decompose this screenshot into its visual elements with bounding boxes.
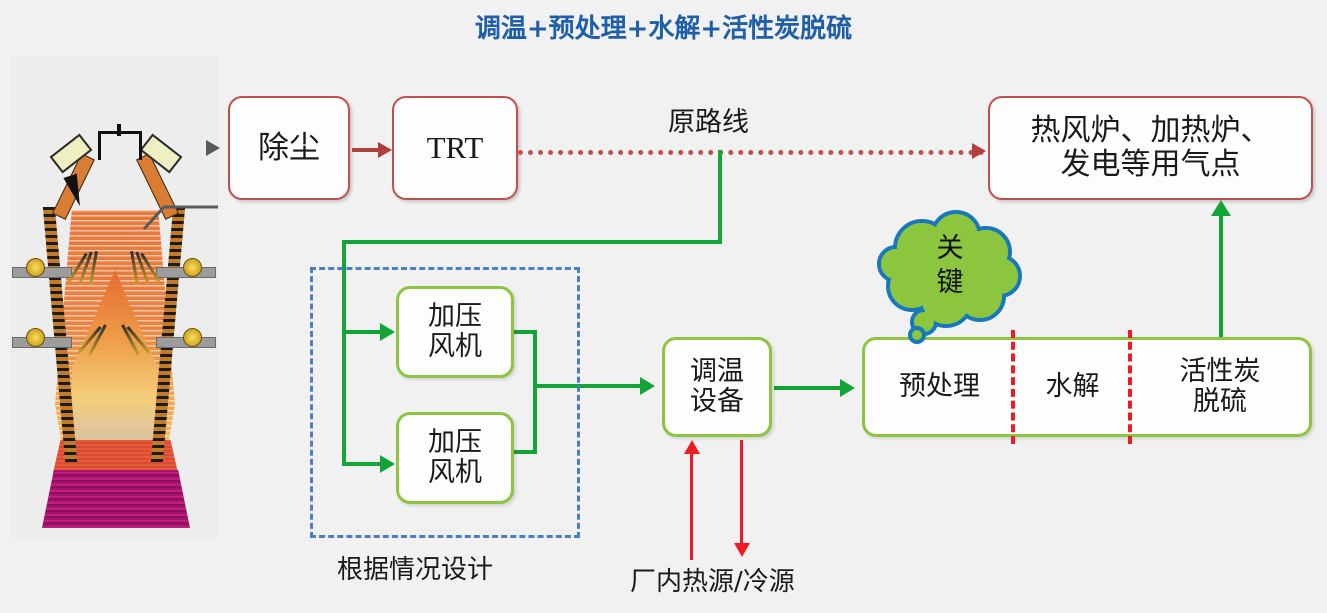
collector-to-temp-arrowhead [640, 377, 655, 395]
heat-source-in-arrowhead [684, 440, 700, 454]
process-divider-2 [1128, 330, 1132, 444]
heat-source-out-line [740, 440, 743, 544]
tuyere-valve-left-lower [26, 328, 45, 347]
slide-canvas: 调温+预处理+水解+活性炭脱硫 [0, 0, 1327, 613]
temp-to-process-line [774, 386, 842, 390]
process-section-hydrolysis: 水解 [1014, 340, 1131, 434]
heat-source-out-arrowhead [734, 543, 750, 557]
temp-to-process-arrowhead [840, 379, 855, 397]
cloud-label: 关 键 [876, 232, 1024, 300]
original-route-arrowhead [972, 143, 986, 159]
process-to-gas-arrowhead [1211, 200, 1231, 216]
tuyere-valve-right-upper [183, 258, 202, 277]
tuyere-valve-right-lower [183, 328, 202, 347]
node-process-train[interactable]: 预处理 水解 活性炭 脱硫 [862, 337, 1312, 437]
furnace-gas-outlet-pipe [142, 197, 218, 231]
dedust-to-trt-arrowhead [378, 142, 392, 158]
furnace-top-gear [98, 131, 142, 160]
callout-key-cloud: 关 键 [876, 208, 1024, 348]
node-dedust[interactable]: 除尘 [228, 96, 350, 200]
process-section-activated-carbon: 活性炭 脱硫 [1131, 340, 1309, 434]
tuyere-valve-left-upper [26, 258, 45, 277]
node-gas-users[interactable]: 热风炉、加热炉、 发电等用气点 [988, 96, 1313, 200]
fan-feed-horizontal [342, 240, 722, 244]
original-route-dotted-line [518, 150, 984, 155]
page-title: 调温+预处理+水解+活性炭脱硫 [0, 8, 1327, 45]
route-to-fan-branch-vertical [718, 150, 722, 242]
label-design-note: 根据情况设计 [337, 549, 493, 586]
node-trt[interactable]: TRT [392, 96, 518, 200]
node-temperature-control[interactable]: 调温 设备 [662, 337, 772, 437]
dedust-to-trt-line [352, 148, 380, 152]
node-pressure-fan-2[interactable]: 加压 风机 [396, 412, 514, 504]
node-pressure-fan-1[interactable]: 加压 风机 [396, 286, 514, 378]
label-original-route: 原路线 [668, 100, 749, 139]
process-to-gas-vertical [1219, 215, 1223, 340]
blast-furnace-illustration [10, 55, 218, 538]
furnace-to-dedust-arrowhead [206, 140, 220, 156]
label-heat-source: 厂内热源/冷源 [630, 561, 795, 598]
process-section-pretreatment: 预处理 [865, 340, 1014, 434]
furnace-base [42, 470, 190, 528]
heat-source-in-line [690, 452, 693, 560]
